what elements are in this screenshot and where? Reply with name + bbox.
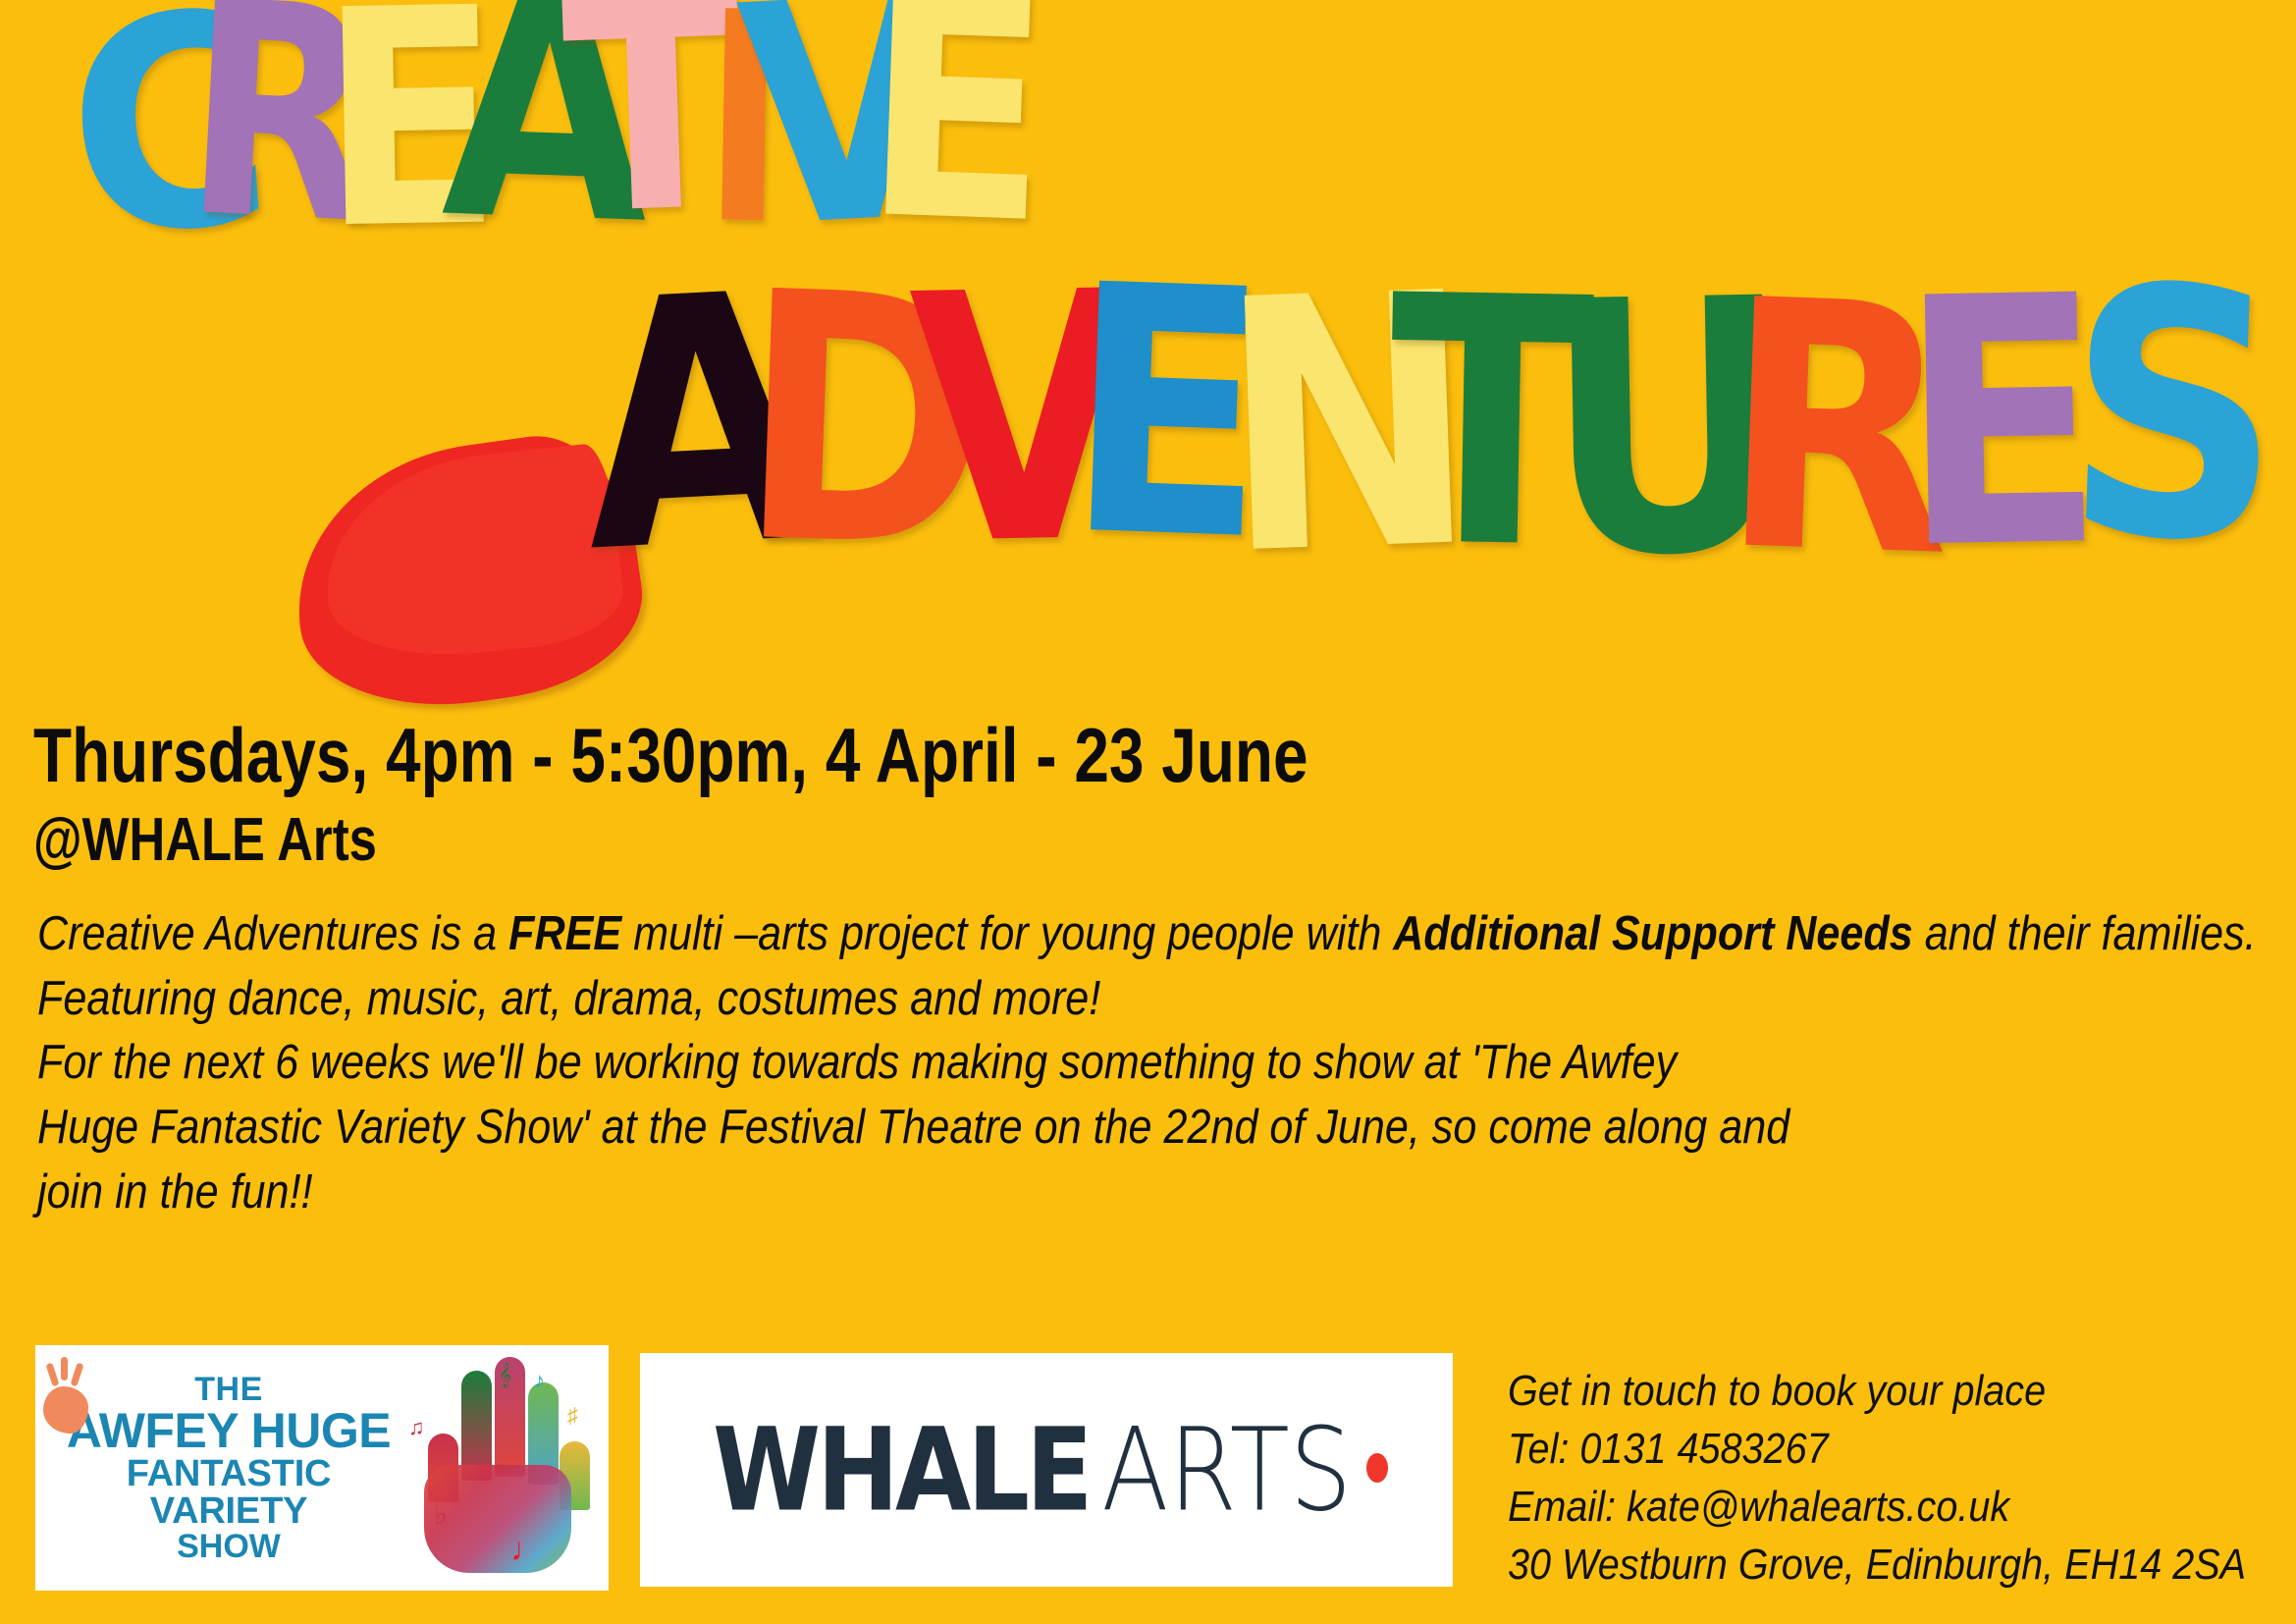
body-p1-a: Creative Adventures is a (37, 907, 508, 960)
whale-arts-wordmark: WHALE ARTS (705, 1410, 1389, 1530)
title-letter-e2: E (860, 0, 1047, 234)
body-paragraph-5: join in the fun!! (37, 1162, 1972, 1224)
contact-details: Get in touch to book your place Tel: 013… (1508, 1363, 2246, 1595)
body-paragraph-2: Featuring dance, music, art, drama, cost… (37, 968, 1972, 1031)
music-note-icon-1: ♫ (408, 1415, 425, 1440)
body-paragraph-3: For the next 6 weeks we'll be working to… (37, 1032, 1972, 1095)
awfey-logo-line4: SHOW (57, 1530, 400, 1563)
whale-logo-bold-text: WHALE (713, 1403, 1090, 1538)
contact-line-email: Email: kate@whalearts.co.uk (1508, 1479, 2246, 1537)
whale-logo-red-dot-icon (1366, 1453, 1388, 1483)
music-note-icon-6: ♩ (510, 1531, 544, 1569)
awfey-huge-variety-show-logo: THE AWFEY HUGE FANTASTIC VARIETY SHOW ♫ … (35, 1345, 609, 1591)
body-paragraph-1: Creative Adventures is a FREE multi –art… (37, 903, 1808, 966)
music-note-icon-2: ♪ (534, 1368, 545, 1393)
body-p1-c: and their families. (1913, 907, 2257, 960)
red-cape-highlight (314, 442, 627, 668)
contact-line-address: 30 Westburn Grove, Edinburgh, EH14 2SA (1508, 1537, 2246, 1595)
awfey-logo-line2: AWFEY HUGE (57, 1406, 400, 1455)
awfey-logo-line1: THE (57, 1373, 400, 1406)
title2-letter-s: S (2061, 281, 2280, 555)
music-note-icon-5: ♭ (434, 1497, 448, 1532)
body-p1-free: FREE (508, 907, 621, 960)
poster-body-copy: Creative Adventures is a FREE multi –art… (37, 903, 1972, 1225)
body-p1-b: multi –arts project for young people wit… (621, 907, 1393, 960)
whale-logo-thin-text: ARTS (1101, 1403, 1352, 1538)
body-paragraph-4: Huge Fantastic Variety Show' at the Fest… (37, 1097, 1972, 1160)
event-schedule-heading: Thursdays, 4pm - 5:30pm, 4 April - 23 Ju… (33, 711, 1308, 800)
awfey-logo-line3: FANTASTIC VARIETY (57, 1455, 400, 1530)
event-venue-heading: @WHALE Arts (33, 805, 377, 875)
paint-splat-icon (43, 1386, 88, 1434)
poster-canvas: C R E A T I V E A D V E N T U R E S Thur… (0, 0, 2296, 1624)
awfey-logo-text: THE AWFEY HUGE FANTASTIC VARIETY SHOW (57, 1373, 400, 1563)
music-note-icon-4: 𝄞 (499, 1362, 511, 1387)
body-p1-asn: Additional Support Needs (1393, 907, 1912, 960)
contact-line-cta: Get in touch to book your place (1508, 1363, 2246, 1421)
poster-title-artwork: C R E A T I V E A D V E N T U R E S (0, 0, 2296, 707)
whale-arts-logo: WHALE ARTS (640, 1353, 1453, 1587)
contact-line-tel: Tel: 0131 4583267 (1508, 1421, 2246, 1479)
colorful-handprint-icon: ♫ ♪ ♯ 𝄞 ♭ ♩ (404, 1358, 591, 1579)
music-note-icon-3: ♯ (567, 1403, 578, 1429)
